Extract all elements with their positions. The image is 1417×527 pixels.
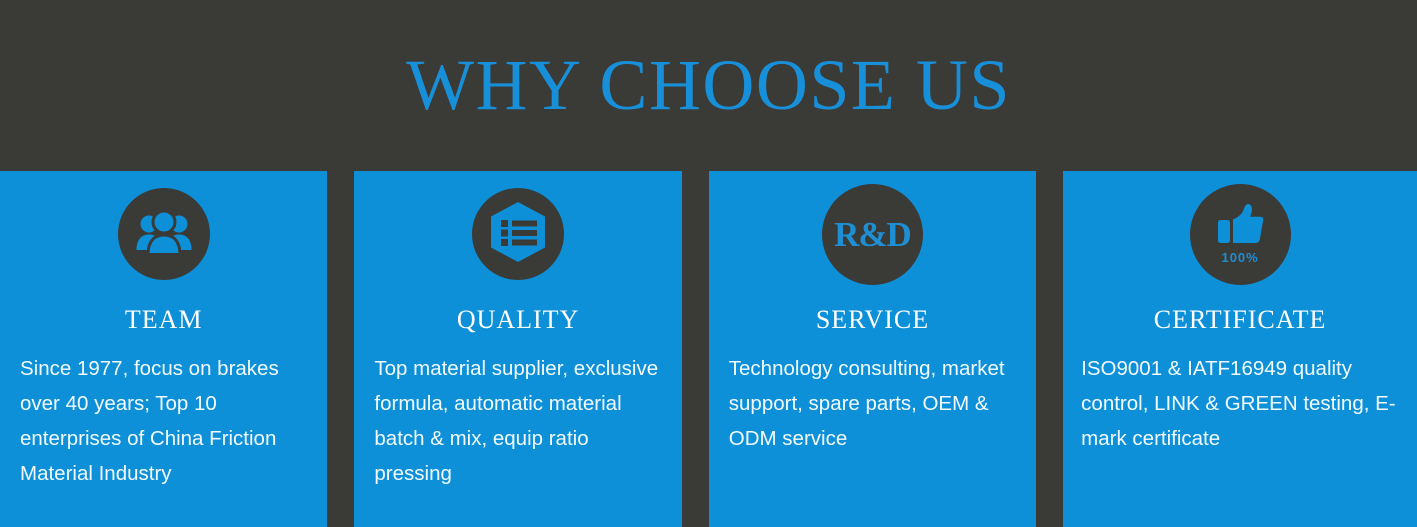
feature-card-certificate[interactable]: 100% CERTIFICATE ISO9001 & IATF16949 qua… bbox=[1063, 171, 1417, 527]
header-band: WHY CHOOSE US bbox=[0, 0, 1417, 171]
feature-body-certificate: ISO9001 & IATF16949 quality control, LIN… bbox=[1063, 351, 1417, 456]
feature-heading-service: SERVICE bbox=[709, 306, 1036, 335]
team-icon-wrap bbox=[0, 186, 327, 282]
feature-body-service: Technology consulting, market support, s… bbox=[709, 351, 1036, 456]
feature-body-team: Since 1977, focus on brakes over 40 year… bbox=[0, 351, 327, 491]
quality-icon-wrap bbox=[354, 186, 681, 282]
research-development-icon: R&D bbox=[834, 217, 911, 252]
team-people-icon bbox=[136, 209, 192, 260]
team-icon-circle bbox=[118, 188, 210, 280]
service-icon-wrap: R&D bbox=[709, 186, 1036, 282]
feature-heading-quality: QUALITY bbox=[354, 306, 681, 335]
certificate-icon-circle: 100% bbox=[1190, 184, 1291, 285]
feature-heading-team: TEAM bbox=[0, 306, 327, 335]
certificate-icon-wrap: 100% bbox=[1063, 186, 1417, 282]
feature-card-quality[interactable]: QUALITY Top material supplier, exclusive… bbox=[354, 171, 681, 527]
feature-columns: TEAM Since 1977, focus on brakes over 40… bbox=[0, 171, 1417, 527]
page-title: WHY CHOOSE US bbox=[0, 0, 1417, 171]
certificate-percent-badge: 100% bbox=[1221, 251, 1258, 264]
quality-hexagon-checklist-icon bbox=[488, 201, 548, 268]
feature-heading-certificate: CERTIFICATE bbox=[1063, 306, 1417, 335]
thumb-stack: 100% bbox=[1216, 203, 1264, 264]
feature-card-service[interactable]: R&D SERVICE Technology consulting, marke… bbox=[709, 171, 1036, 527]
service-icon-circle: R&D bbox=[822, 184, 923, 285]
feature-body-quality: Top material supplier, exclusive formula… bbox=[354, 351, 681, 491]
thumbs-up-icon bbox=[1216, 203, 1264, 250]
feature-card-team[interactable]: TEAM Since 1977, focus on brakes over 40… bbox=[0, 171, 327, 527]
why-choose-us-section: WHY CHOOSE US bbox=[0, 0, 1417, 527]
quality-icon-circle bbox=[472, 188, 564, 280]
